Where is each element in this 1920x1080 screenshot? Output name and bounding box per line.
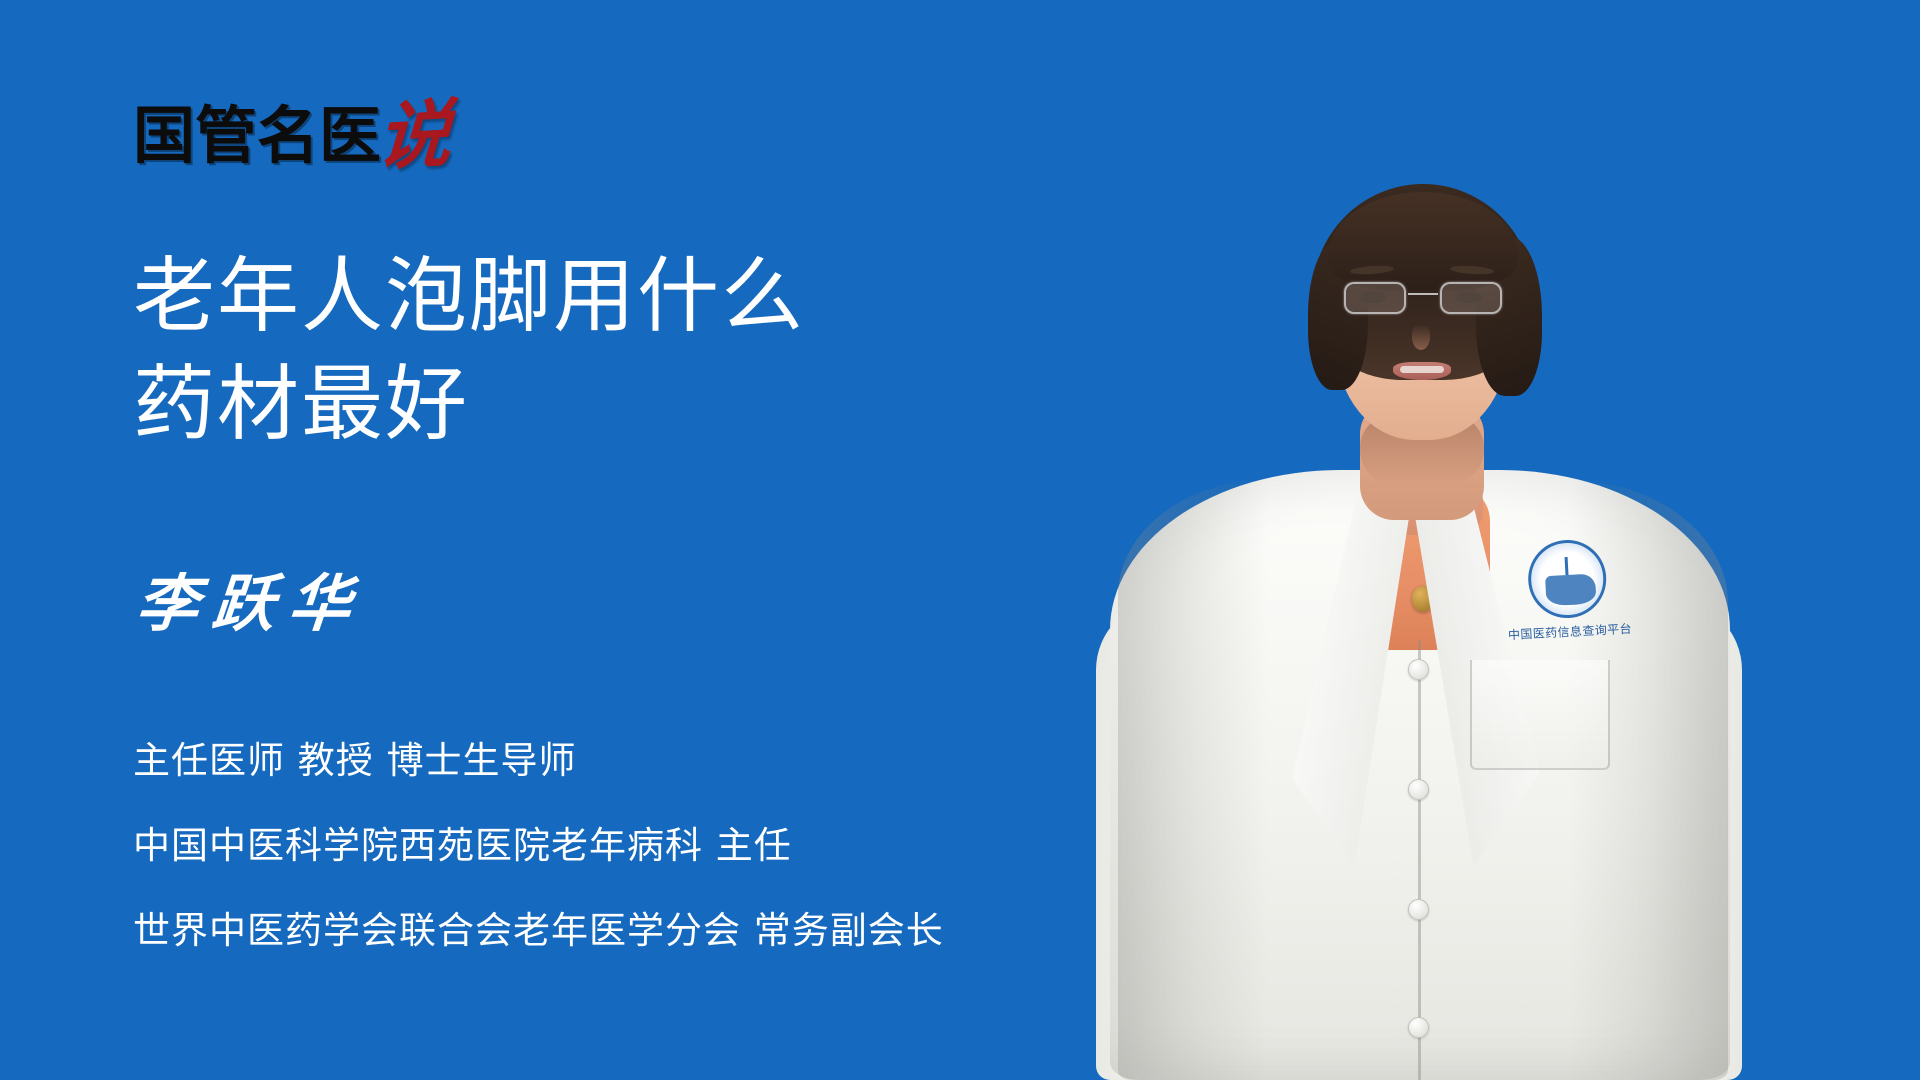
title-card-stage: 国管名医 说 老年人泡脚用什么 药材最好 李跃华 主任医师 教授 博士生导师 中… [0, 0, 1920, 1080]
portrait-teeth [1400, 366, 1444, 373]
hospital-badge-text: 中国医药信息查询平台 [1508, 620, 1633, 643]
episode-title-line-1: 老年人泡脚用什么 [133, 243, 1133, 351]
episode-title-line-2: 药材最好 [133, 351, 1133, 459]
program-logo: 国管名医 说 [133, 95, 449, 169]
doctor-name: 李跃华 [133, 553, 369, 643]
portrait-coat-button [1408, 779, 1429, 800]
eyeglass-bridge [1408, 293, 1438, 295]
eyeglass-lens-left [1344, 282, 1406, 314]
doctor-portrait: 中国医药信息查询平台 [1060, 20, 1780, 1080]
hospital-emblem-icon [1526, 538, 1608, 620]
portrait-coat-button [1408, 1017, 1429, 1038]
portrait-eyeglasses [1342, 280, 1504, 320]
portrait-coat-pocket [1470, 660, 1610, 770]
program-logo-main-text: 国管名医 [133, 105, 381, 167]
portrait-coat-button [1408, 659, 1429, 680]
portrait-coat-seam [1418, 640, 1421, 1080]
portrait-coat-shadow-left [1118, 480, 1268, 1080]
program-logo-accent-text: 说 [375, 97, 453, 175]
hospital-badge: 中国医药信息查询平台 [1499, 537, 1636, 652]
episode-title: 老年人泡脚用什么 药材最好 [133, 243, 1133, 459]
eyeglass-lens-right [1440, 282, 1502, 314]
portrait-nose [1412, 324, 1430, 350]
portrait-coat-button [1408, 899, 1429, 920]
